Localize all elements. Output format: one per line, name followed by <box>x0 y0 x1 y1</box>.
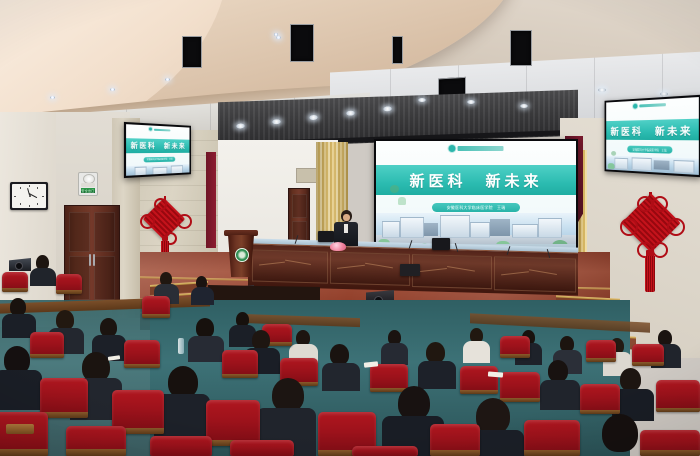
flower-arrangement <box>330 242 346 251</box>
auditorium-seat[interactable] <box>222 350 258 378</box>
audience-member <box>426 342 445 363</box>
left-wall-return <box>0 112 56 327</box>
slide-subtitle-pill: 安徽医科大学临床医学院 王瑞 <box>627 146 672 154</box>
auditorium-seat[interactable] <box>30 332 64 358</box>
right-wall-monitor: 新医科 新未来 安徽医科大学临床医学院 王瑞 <box>605 95 700 178</box>
ceiling-downlight <box>165 78 170 81</box>
main-projection-screen: 新医科 新未来 安徽医科大学临床医学院 王瑞 <box>374 139 578 255</box>
audience-member <box>252 330 270 350</box>
slide-title: 新医科 新未来 <box>131 140 186 151</box>
university-crest-icon <box>235 248 249 262</box>
audience-member <box>398 386 430 420</box>
audience-member <box>548 360 568 382</box>
auditorium-seat[interactable] <box>370 364 408 392</box>
slide-title-band: 新医科 新未来 <box>126 138 189 153</box>
stage-downlight <box>598 88 606 92</box>
auditorium-seat[interactable] <box>500 372 540 402</box>
slide-title-band: 新医科 新未来 <box>606 119 699 141</box>
auditorium-seat[interactable] <box>430 424 480 456</box>
auditorium-seat[interactable] <box>524 420 580 456</box>
exit-sign-text: 安全出口 <box>81 188 95 193</box>
presenter-face <box>343 214 350 221</box>
auditorium-seat[interactable] <box>640 430 700 456</box>
auditorium-seat[interactable] <box>230 440 294 456</box>
university-logo-wordmark <box>458 146 504 151</box>
slide-campus-photo <box>126 164 189 176</box>
audience-member <box>30 268 56 286</box>
chinese-knot-decoration-right <box>620 192 682 296</box>
slide-campus-photo <box>606 156 699 175</box>
slide-subtitle-pill: 安徽医科大学临床医学院 王瑞 <box>144 157 176 163</box>
audience-member <box>56 310 74 330</box>
auditorium-seat[interactable] <box>500 336 530 358</box>
maroon-curtain-left-edge <box>206 152 216 248</box>
auditorium-seat[interactable] <box>656 380 700 412</box>
university-logo-wordmark <box>639 103 666 107</box>
audience-member <box>196 318 214 338</box>
auditorium-seat[interactable] <box>632 344 664 366</box>
auditorium-seat[interactable] <box>2 272 28 292</box>
stage-downlight <box>520 104 528 108</box>
handout-paper <box>488 371 503 377</box>
audience-member <box>620 368 641 391</box>
slide-title: 新医科 新未来 <box>409 170 542 191</box>
laptop[interactable] <box>432 238 450 250</box>
audience-member <box>476 398 510 434</box>
auditorium-seat[interactable] <box>460 366 498 394</box>
audience-member <box>330 344 349 365</box>
exit-sign: 安全出口 <box>78 172 98 196</box>
auditorium-photo: 安全出口 新医科 新未来 安徽医科大学临床医学院 王瑞 <box>0 0 700 456</box>
ceiling-downlight <box>110 88 115 91</box>
ceiling-vent-panel-3 <box>290 24 314 62</box>
auditorium-seat[interactable] <box>586 340 616 362</box>
ceiling-downlight <box>274 33 278 36</box>
right-monitor-slide: 新医科 新未来 安徽医科大学临床医学院 王瑞 <box>606 97 699 175</box>
left-wall-monitor: 新医科 新未来 安徽医科大学临床医学院 王瑞 <box>124 122 191 178</box>
auditorium-seat[interactable] <box>580 384 620 414</box>
university-logo-icon <box>633 104 637 109</box>
university-logo-icon <box>449 145 456 152</box>
university-logo-icon <box>149 127 152 130</box>
auditorium-seat[interactable] <box>142 296 170 318</box>
audience-member <box>381 343 408 365</box>
auditorium-seat[interactable] <box>56 274 82 294</box>
audience-member <box>188 336 224 362</box>
laptop[interactable] <box>318 231 334 242</box>
slide-subtitle-pill: 安徽医科大学临床医学院 王瑞 <box>432 203 520 212</box>
stage-downlight <box>418 98 426 102</box>
stage-downlight <box>660 92 668 96</box>
audience-member <box>322 363 360 391</box>
audience-member <box>0 370 42 410</box>
audience-member <box>463 341 490 363</box>
slide-title-band: 新医科 新未来 <box>376 165 576 195</box>
ceiling-downlight <box>50 96 55 99</box>
audience-member <box>418 361 456 389</box>
auditorium-seat[interactable] <box>352 446 418 456</box>
slide-title: 新医科 新未来 <box>611 122 694 138</box>
auditorium-seat[interactable] <box>66 426 126 456</box>
ceiling-vent-panel-4 <box>510 30 532 66</box>
audience-member <box>191 287 214 305</box>
auditorium-seat[interactable] <box>0 412 48 456</box>
ceiling-downlight <box>276 36 281 39</box>
main-slide: 新医科 新未来 安徽医科大学临床医学院 王瑞 <box>376 141 576 253</box>
left-monitor-slide: 新医科 新未来 安徽医科大学临床医学院 王瑞 <box>126 124 189 176</box>
water-bottle <box>178 338 184 354</box>
audience-member <box>602 414 638 452</box>
audience-member <box>272 378 304 412</box>
auditorium-seat[interactable] <box>150 436 212 456</box>
auditorium-seat[interactable] <box>40 378 88 418</box>
seat-armrest <box>6 424 34 434</box>
audience-member <box>540 380 580 410</box>
auditorium-seat[interactable] <box>124 340 160 368</box>
university-logo-wordmark <box>154 128 171 131</box>
laptop[interactable] <box>400 264 420 276</box>
wall-clock <box>10 182 48 210</box>
presenter-shirt <box>344 224 348 233</box>
speaker-podium[interactable] <box>228 235 254 277</box>
stage-downlight <box>467 100 475 104</box>
ceiling-vent-slot-2 <box>392 36 403 64</box>
ceiling-vent-panel-2 <box>182 36 202 68</box>
